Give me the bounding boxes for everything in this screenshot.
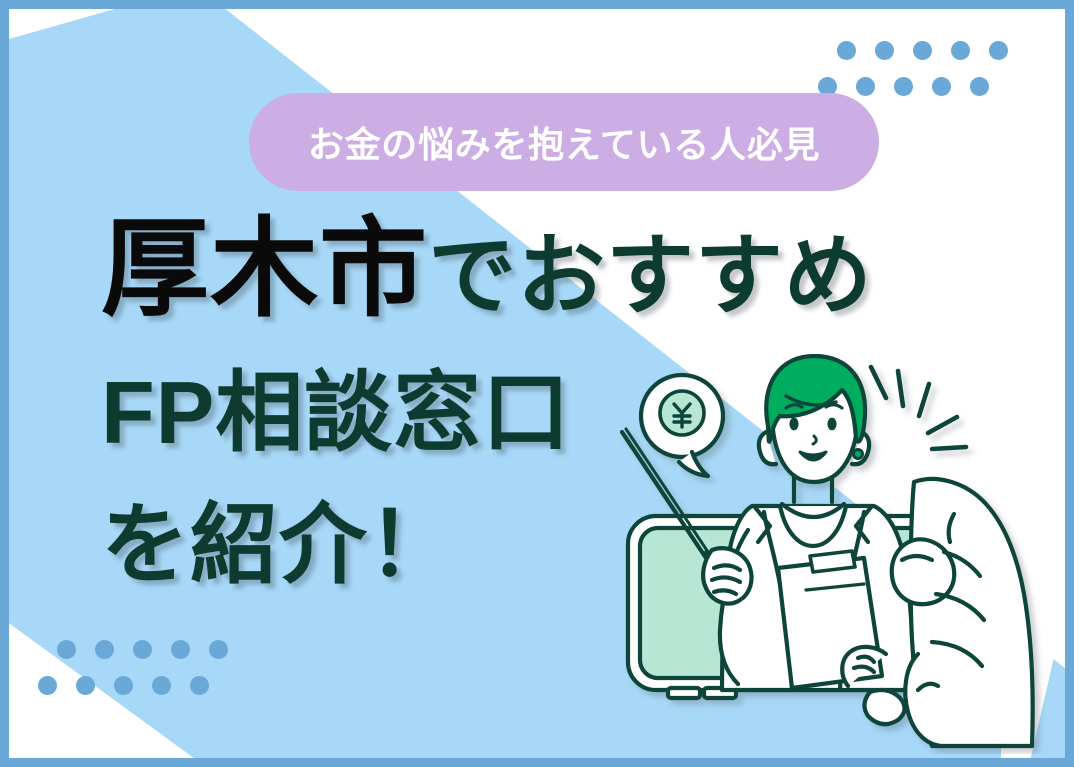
- illustration-svg: [614, 354, 1065, 754]
- dot: [951, 41, 970, 60]
- emphasis-lines: [871, 367, 966, 449]
- woman-head: [759, 356, 869, 482]
- dot: [875, 41, 894, 60]
- dot: [133, 640, 152, 659]
- yen-speech-bubble: [641, 375, 723, 476]
- headline-line-1-tail: でおすすめ: [428, 232, 872, 320]
- dot: [970, 77, 989, 96]
- dot-decoration-top-right: [837, 41, 1027, 113]
- headline-line-1: 厚木市 でおすすめ: [101, 215, 873, 323]
- dot: [38, 676, 57, 695]
- headline-line-3-text: を紹介！: [101, 501, 457, 589]
- dot: [209, 640, 228, 659]
- dot: [76, 676, 95, 695]
- dot: [989, 41, 1008, 60]
- headline-line-2-text: FP相談窓口: [101, 369, 571, 457]
- dot: [932, 77, 951, 96]
- dot: [837, 41, 856, 60]
- banner-canvas: お金の悩みを抱えている人必見 厚木市 でおすすめ FP相談窓口 を紹介！: [9, 9, 1065, 758]
- dot: [856, 77, 875, 96]
- dot: [152, 676, 171, 695]
- dot: [894, 77, 913, 96]
- dot: [95, 640, 114, 659]
- dot: [57, 640, 76, 659]
- illustration-fp-consultant: [614, 354, 1065, 754]
- dot-decoration-bottom-left: [57, 640, 247, 712]
- dot: [171, 640, 190, 659]
- banner-image: お金の悩みを抱えている人必見 厚木市 でおすすめ FP相談窓口 を紹介！: [0, 0, 1074, 767]
- dot: [190, 676, 209, 695]
- headline-keyword-city: 厚木市: [101, 215, 428, 323]
- dot: [114, 676, 133, 695]
- catch-badge: お金の悩みを抱えている人必見: [249, 93, 879, 191]
- dot: [913, 41, 932, 60]
- catch-badge-label: お金の悩みを抱えている人必見: [308, 116, 820, 168]
